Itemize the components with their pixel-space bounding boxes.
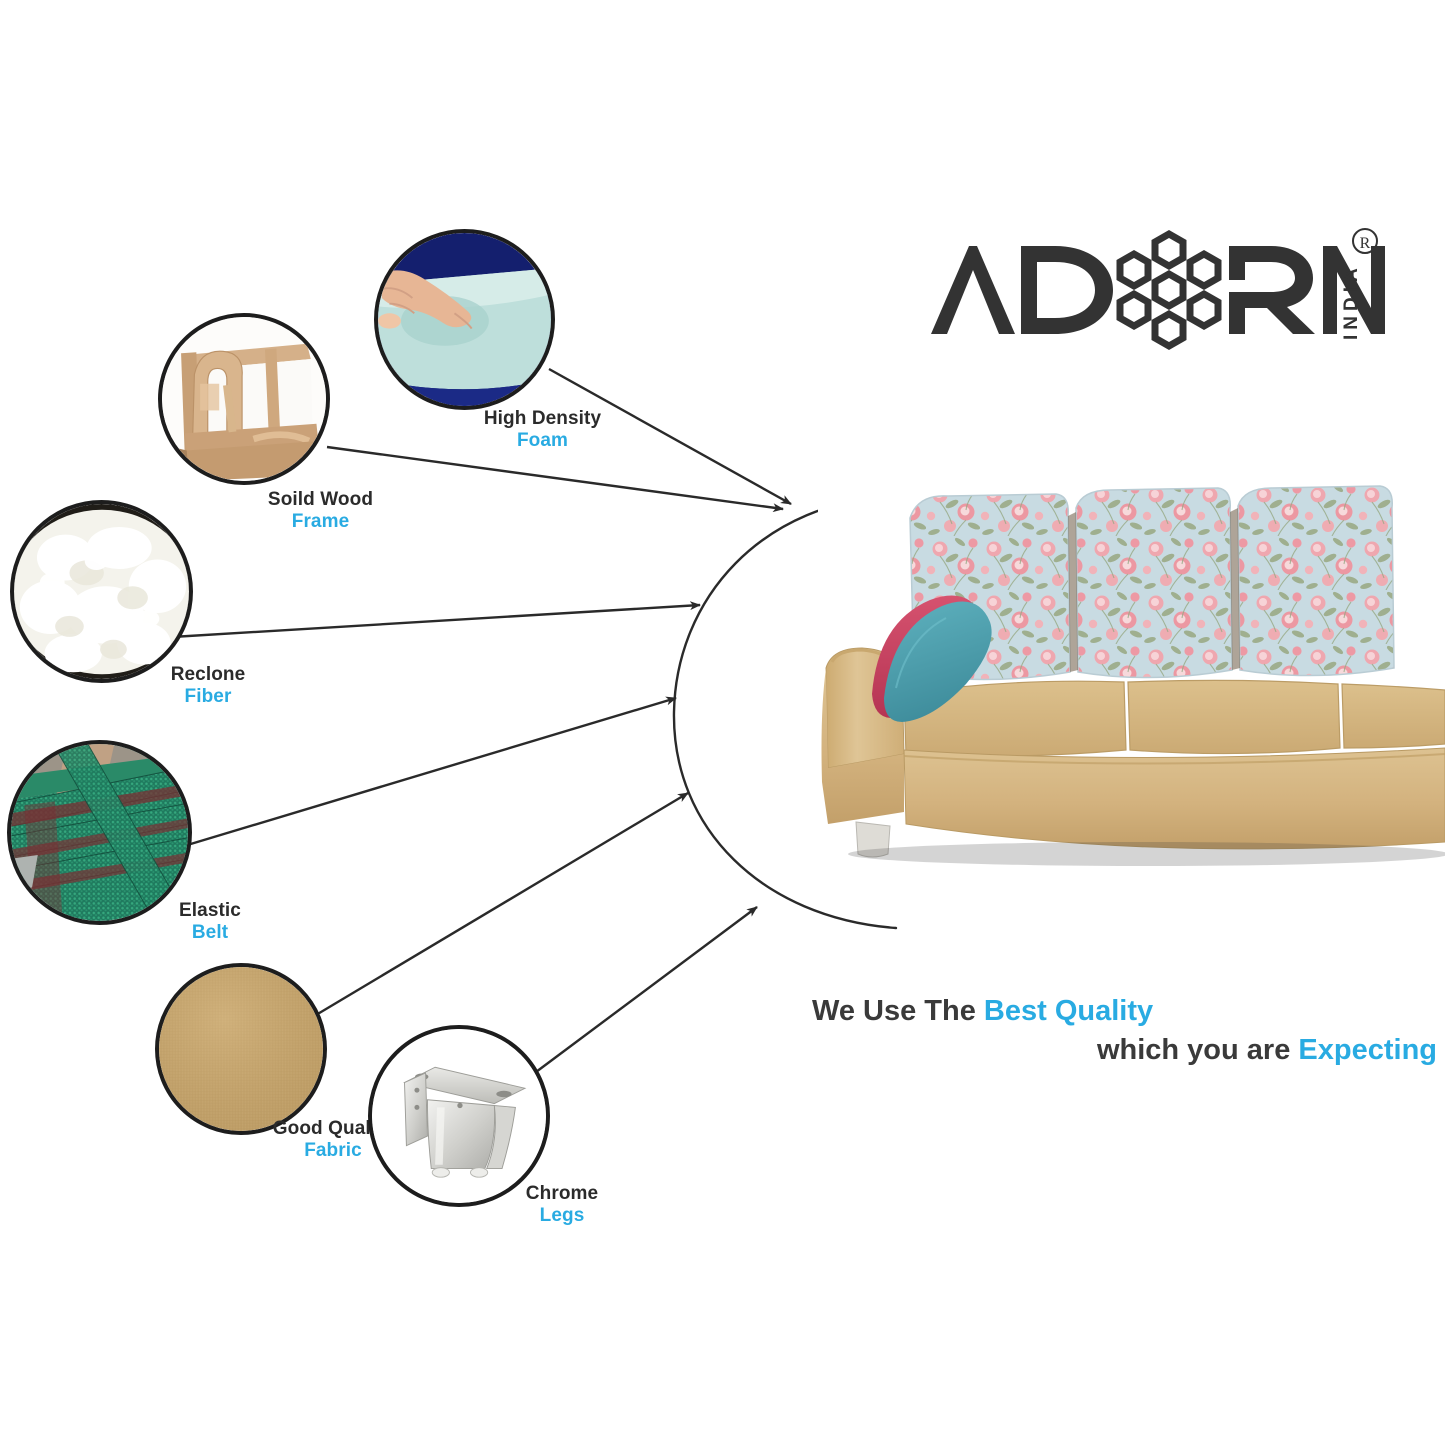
tagline: We Use The Best Quality which you are Ex… bbox=[812, 992, 1437, 1069]
honeycomb-hexagon-cluster bbox=[1120, 234, 1218, 346]
tagline-line-1-plain: We Use The bbox=[812, 995, 984, 1027]
arrow-chrome-legs bbox=[536, 907, 757, 1072]
arrow-high-density-foam bbox=[549, 369, 791, 504]
registered-trademark-icon: R bbox=[1353, 229, 1377, 253]
foam-press-photo bbox=[378, 233, 551, 406]
infographic-canvas: Soild Wood Frame High Dens bbox=[0, 0, 1445, 1445]
arrow-good-quality-fabric bbox=[316, 793, 688, 1015]
feature-circle-high-density-foam[interactable] bbox=[374, 229, 555, 410]
tagline-line-2-accent: Expecting bbox=[1298, 1034, 1437, 1066]
tagline-line-1-accent: Best Quality bbox=[984, 995, 1153, 1027]
feature-circle-elastic-belt[interactable] bbox=[7, 740, 192, 925]
feature-circle-reclone-fiber[interactable] bbox=[10, 500, 193, 683]
arrow-solid-wood-frame bbox=[327, 447, 783, 509]
svg-text:R: R bbox=[1360, 235, 1371, 252]
tagline-line-1: We Use The Best Quality bbox=[812, 992, 1437, 1031]
chrome-leg-photo bbox=[372, 1029, 546, 1203]
feature-circle-solid-wood-frame[interactable] bbox=[158, 313, 330, 485]
fabric-swatch bbox=[159, 967, 323, 1131]
tagline-line-2-plain: which you are bbox=[1097, 1034, 1298, 1066]
product-sofa-image bbox=[818, 482, 1445, 902]
elastic-webbing-photo bbox=[11, 744, 188, 921]
wooden-frame-photo bbox=[162, 317, 326, 481]
seat-cushions bbox=[904, 680, 1445, 756]
arrow-reclone-fiber bbox=[172, 605, 700, 637]
logo-india-text: INDIA bbox=[1341, 263, 1362, 340]
tagline-line-2: which you are Expecting bbox=[812, 1031, 1437, 1070]
feature-circle-good-quality-fabric[interactable] bbox=[155, 963, 327, 1135]
brand-logo: INDIA R bbox=[925, 222, 1385, 357]
arrow-elastic-belt bbox=[184, 698, 676, 846]
feature-circle-chrome-legs[interactable] bbox=[368, 1025, 550, 1207]
fiber-photo bbox=[14, 504, 189, 679]
